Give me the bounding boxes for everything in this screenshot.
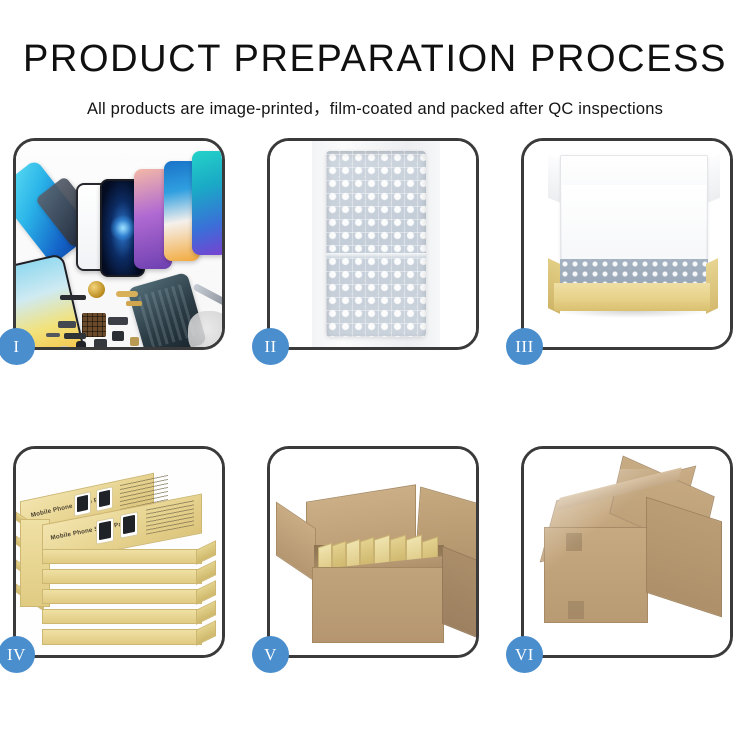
ribbon-cable-part [64,333,86,339]
process-step-panel-4[interactable]: Mobile Phone Spare Parts Mobile Phone Sp… [13,446,225,658]
open-carton-illustration [270,449,476,655]
sealed-box-flap-tab-top [566,533,582,551]
box-layer-2 [42,569,202,584]
process-step-panel-1[interactable]: I [13,138,225,350]
speaker-part [94,339,107,347]
step-5-image [270,449,476,655]
box-drop-shadow [558,311,708,318]
vibration-motor-part [112,331,124,341]
product-preparation-process-page: PRODUCT PREPARATION PROCESS All products… [0,0,750,750]
step-3-image [524,141,730,347]
adhesive-strip-part [60,346,69,347]
carton-side-face [442,546,476,639]
bubble-wrap-seam [326,253,426,258]
page-title: PRODUCT PREPARATION PROCESS [0,0,750,78]
process-step-panel-3[interactable]: III [521,138,733,350]
box-thumbnail-front-2 [120,511,138,538]
bubble-wrap-illustration [270,141,476,347]
process-step-panel-2[interactable]: II [267,138,479,350]
sealed-carton-illustration [524,449,730,655]
bubble-wrap-pouch [326,151,426,337]
phones-and-parts-illustration [16,141,222,347]
button-flex-part [108,317,128,325]
process-step-panel-5[interactable]: V [267,446,479,658]
speaker-coil-part-icon [88,281,105,298]
antenna-part [46,333,60,337]
stacked-boxes-illustration: Mobile Phone Spare Parts Mobile Phone Sp… [16,449,222,655]
step-1-image [16,141,222,347]
flex-cable-part [60,295,86,300]
step-6-image [524,449,730,655]
box-thumbnail-rear-2 [96,486,113,512]
camera-module-part [58,321,76,328]
box-layer-5 [42,629,202,645]
step-badge-1: I [0,328,35,365]
step-badge-5: V [252,636,289,673]
hand-holding-tool [188,311,222,347]
step-badge-2: II [252,328,289,365]
box-thumbnail-rear-1 [74,491,91,517]
step-badge-3: III [506,328,543,365]
sim-tray-part [76,341,86,347]
process-step-panel-6[interactable]: VI [521,446,733,658]
page-subtitle: All products are image-printed，film-coat… [0,78,750,119]
gold-flex-part [126,301,142,306]
tweezers-tool-icon [192,283,222,306]
process-step-grid: I II [13,138,735,684]
step-2-image [270,141,476,347]
sealed-box-front-face [544,527,648,623]
sealed-box-flap-tab-bottom [568,601,584,619]
white-foam-lining [562,185,706,263]
sealed-box-right-face [646,497,722,618]
box-front-panel [554,283,710,311]
carton-front-face [312,567,444,643]
step-badge-4: IV [0,636,35,673]
open-flat-box-illustration [524,141,730,347]
step-4-image: Mobile Phone Spare Parts Mobile Phone Sp… [16,449,222,655]
box-thumbnail-front-1 [96,517,114,544]
box-layer-4 [42,609,202,624]
page-header: PRODUCT PREPARATION PROCESS All products… [0,0,750,119]
box-layer-1 [42,549,202,564]
phone-teal-wave-screen [192,151,222,255]
gold-connector-part [116,291,138,297]
gold-contact-part [130,337,139,346]
box-layer-3 [42,589,202,604]
step-badge-6: VI [506,636,543,673]
